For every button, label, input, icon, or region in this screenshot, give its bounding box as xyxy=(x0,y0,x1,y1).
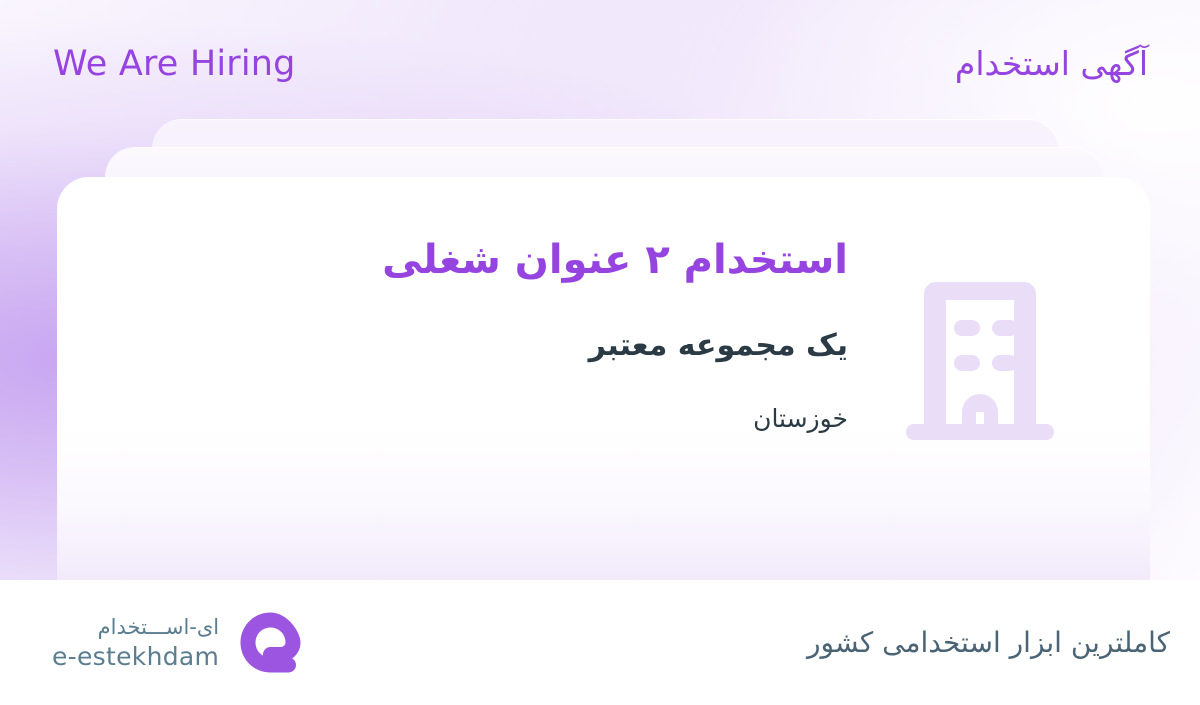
job-card[interactable]: استخدام ۲ عنوان شغلی یک مجموعه معتبر خوز… xyxy=(57,177,1150,580)
footer-bar: کاملترین ابزار استخدامی کشور ای-اســـتخد… xyxy=(0,580,1200,705)
hero-headline-english: We Are Hiring xyxy=(53,41,296,87)
company-logo-area xyxy=(900,177,1150,445)
brand-lockup[interactable]: ای-اســـتخدام e-estekhdam xyxy=(52,606,307,680)
building-icon xyxy=(900,270,1060,445)
brand-name-english: e-estekhdam xyxy=(52,641,219,672)
job-title: استخدام ۲ عنوان شغلی xyxy=(57,229,848,291)
e-logo-icon xyxy=(233,606,307,680)
hero-headline-persian: آگهی استخدام xyxy=(955,38,1148,90)
job-card-details: استخدام ۲ عنوان شغلی یک مجموعه معتبر خوز… xyxy=(57,177,900,439)
job-ad-banner: We Are Hiring آگهی استخدام استخدام ۲ عنو… xyxy=(0,0,1200,705)
brand-wordmark: ای-اســـتخدام e-estekhdam xyxy=(52,613,219,672)
job-location: خوزستان xyxy=(57,399,848,439)
footer-tagline: کاملترین ابزار استخدامی کشور xyxy=(807,621,1170,665)
brand-name-persian: ای-اســـتخدام xyxy=(98,613,220,641)
hero-background: We Are Hiring آگهی استخدام استخدام ۲ عنو… xyxy=(0,0,1200,580)
company-name: یک مجموعه معتبر xyxy=(57,323,848,369)
